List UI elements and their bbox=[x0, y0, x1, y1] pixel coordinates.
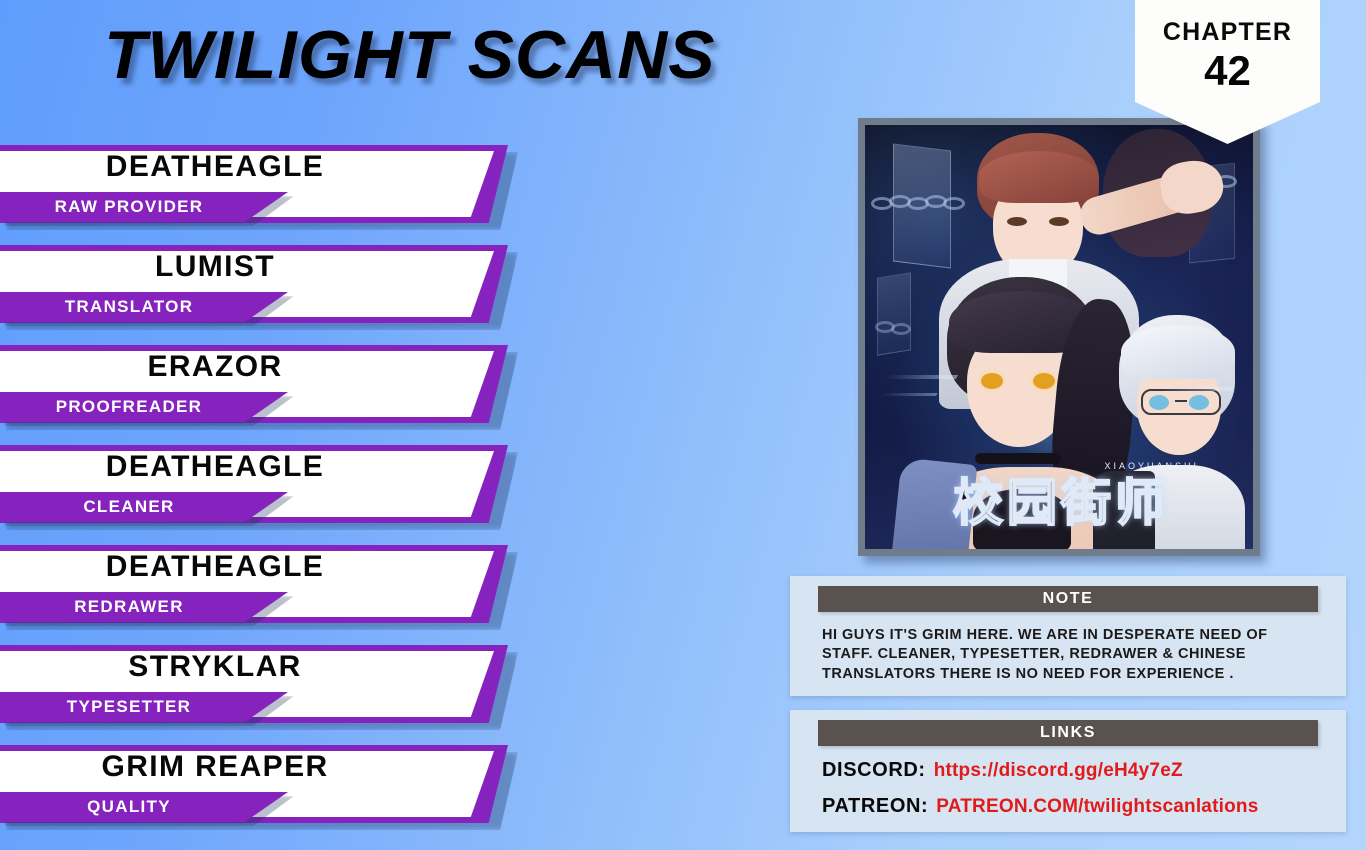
credits-list: DEATHEAGLE RAW PROVIDER LUMIST TRANSLATO… bbox=[0, 145, 540, 845]
credit-row: GRIM REAPER QUALITY bbox=[0, 745, 540, 845]
eye bbox=[1049, 217, 1069, 226]
page-title: TWILIGHT SCANS bbox=[104, 18, 716, 93]
light-slash bbox=[880, 393, 938, 396]
credit-role: TRANSLATOR bbox=[0, 292, 258, 322]
eye bbox=[1033, 373, 1055, 389]
chain-link-icon bbox=[891, 323, 911, 335]
link-row-discord: DISCORD: https://discord.gg/eH4y7eZ bbox=[822, 759, 1346, 782]
credit-name: ERAZOR bbox=[0, 350, 430, 384]
cover-romaji: XIAOYUANSHI bbox=[1104, 461, 1199, 471]
note-body: HI GUYS IT'S GRIM HERE. WE ARE IN DESPER… bbox=[822, 626, 1322, 684]
cover-art: XIAOYUANSHI 校 园 街 师 bbox=[858, 118, 1260, 556]
glasses-bridge bbox=[1175, 400, 1187, 402]
patreon-label: PATREON: bbox=[822, 795, 928, 818]
discord-label: DISCORD: bbox=[822, 759, 926, 782]
note-panel: NOTE HI GUYS IT'S GRIM HERE. WE ARE IN D… bbox=[790, 576, 1346, 696]
discord-link[interactable]: https://discord.gg/eH4y7eZ bbox=[934, 760, 1183, 782]
glasses-icon bbox=[1141, 389, 1221, 415]
credit-role: TYPESETTER bbox=[0, 692, 258, 722]
hair-fringe bbox=[979, 151, 1099, 203]
credit-role: REDRAWER bbox=[0, 592, 258, 622]
links-heading: LINKS bbox=[818, 720, 1318, 746]
credit-role: PROOFREADER bbox=[0, 392, 258, 422]
credit-name: DEATHEAGLE bbox=[0, 550, 430, 584]
eye bbox=[1007, 217, 1027, 226]
credit-row: ERAZOR PROOFREADER bbox=[0, 345, 540, 445]
chapter-number: 42 bbox=[1204, 50, 1251, 92]
credit-row: STRYKLAR TYPESETTER bbox=[0, 645, 540, 745]
note-heading: NOTE bbox=[818, 586, 1318, 612]
cover-logo-char: 园 bbox=[1007, 480, 1057, 528]
cover-logo-char: 街 bbox=[1061, 480, 1111, 528]
credit-name: DEATHEAGLE bbox=[0, 150, 430, 184]
cover-panel-shape bbox=[877, 272, 911, 355]
cover-image: XIAOYUANSHI 校 园 街 师 bbox=[865, 125, 1253, 549]
credit-role: QUALITY bbox=[0, 792, 258, 822]
credit-row: LUMIST TRANSLATOR bbox=[0, 245, 540, 345]
credit-name: DEATHEAGLE bbox=[0, 450, 430, 484]
credit-name: STRYKLAR bbox=[0, 650, 430, 684]
link-row-patreon: PATREON: PATREON.COM/twilightscanlations bbox=[822, 795, 1346, 818]
credit-role: CLEANER bbox=[0, 492, 258, 522]
credit-name: LUMIST bbox=[0, 250, 430, 284]
credits-page: TWILIGHT SCANS CHAPTER 42 DEATHEAGLE RAW… bbox=[0, 0, 1366, 850]
credit-row: DEATHEAGLE CLEANER bbox=[0, 445, 540, 545]
light-slash bbox=[1160, 387, 1234, 391]
light-slash bbox=[886, 375, 958, 379]
credit-row: DEATHEAGLE RAW PROVIDER bbox=[0, 145, 540, 245]
hair-fringe bbox=[1121, 325, 1235, 379]
credit-row: DEATHEAGLE REDRAWER bbox=[0, 545, 540, 645]
patreon-link[interactable]: PATREON.COM/twilightscanlations bbox=[936, 796, 1258, 818]
eye bbox=[981, 373, 1003, 389]
credit-name: GRIM REAPER bbox=[0, 750, 430, 784]
choker bbox=[975, 453, 1061, 464]
chapter-label: CHAPTER bbox=[1163, 18, 1292, 47]
cover-logo-char: 校 bbox=[953, 480, 1003, 528]
cover-logo: 校 园 街 师 bbox=[953, 480, 1165, 528]
links-panel: LINKS DISCORD: https://discord.gg/eH4y7e… bbox=[790, 710, 1346, 832]
cover-logo-char: 师 bbox=[1115, 480, 1165, 528]
credit-role: RAW PROVIDER bbox=[0, 192, 258, 222]
